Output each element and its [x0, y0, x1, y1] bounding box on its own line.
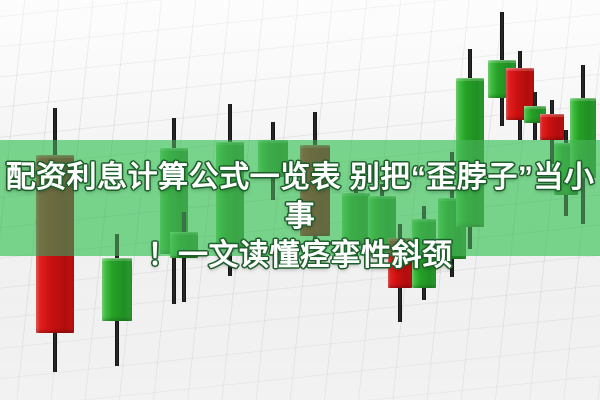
candlestick-body-highlight	[570, 98, 596, 101]
headline-line-2: ！一文读懂痉挛性斜颈	[0, 236, 600, 275]
candlestick-chart-banner: 配资利息计算公式一览表 别把“歪脖子”当小事 ！一文读懂痉挛性斜颈	[0, 0, 600, 400]
headline-overlay: 配资利息计算公式一览表 别把“歪脖子”当小事 ！一文读懂痉挛性斜颈	[0, 158, 600, 275]
headline-line-1: 配资利息计算公式一览表 别把“歪脖子”当小事	[0, 158, 600, 236]
candlestick-body-highlight	[456, 78, 484, 81]
